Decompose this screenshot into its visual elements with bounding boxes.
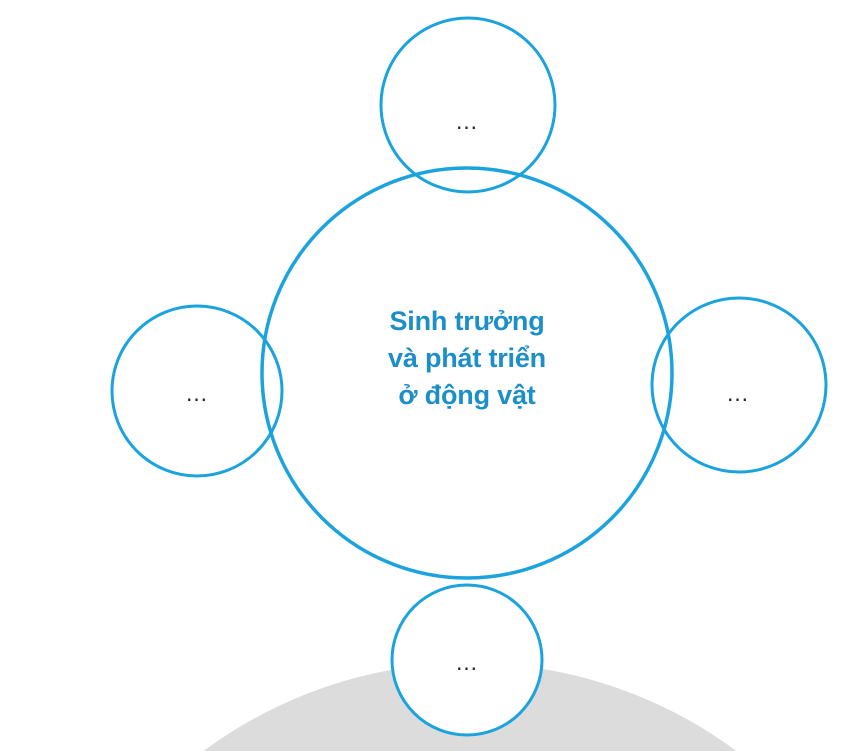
diagram-canvas: Sinh trưởng và phát triển ở động vật … …… <box>0 0 845 751</box>
center-node-label: Sinh trưởng và phát triển ở động vật <box>337 303 597 414</box>
center-label-line-2: và phát triển <box>337 340 597 377</box>
node-right-label: … <box>699 388 779 398</box>
node-left-label: … <box>158 388 238 398</box>
node-top-label: … <box>428 116 508 126</box>
center-label-line-3: ở động vật <box>337 377 597 414</box>
center-label-line-1: Sinh trưởng <box>337 303 597 340</box>
node-bottom-label: … <box>428 657 508 667</box>
node-top-circle[interactable] <box>381 18 555 192</box>
